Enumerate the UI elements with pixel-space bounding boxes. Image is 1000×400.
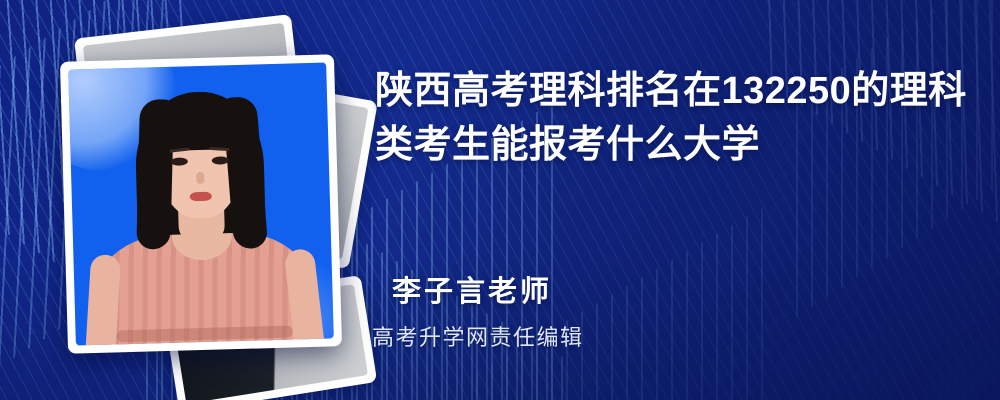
headline-line-1: 陕西高考理科排名在132250的理科 <box>375 64 975 118</box>
nose-shape <box>196 172 204 184</box>
arm-left-shape <box>85 254 121 346</box>
author-role: 高考升学网责任编辑 <box>372 320 584 352</box>
author-name: 李子言老师 <box>392 268 552 310</box>
headline-line-2: 类考生能报考什么大学 <box>375 118 975 172</box>
portrait-photo <box>68 62 334 345</box>
photo-frame-icon-main <box>60 54 342 354</box>
hair-left-shape <box>136 99 174 250</box>
page-title: 陕西高考理科排名在132250的理科 类考生能报考什么大学 <box>375 64 975 172</box>
article-hero-banner: 陕西高考理科排名在132250的理科 类考生能报考什么大学 李子言老师 高考升学… <box>0 0 1000 400</box>
avatar <box>58 42 358 362</box>
mouth-shape <box>190 192 212 202</box>
portrait-illustration <box>68 62 334 345</box>
